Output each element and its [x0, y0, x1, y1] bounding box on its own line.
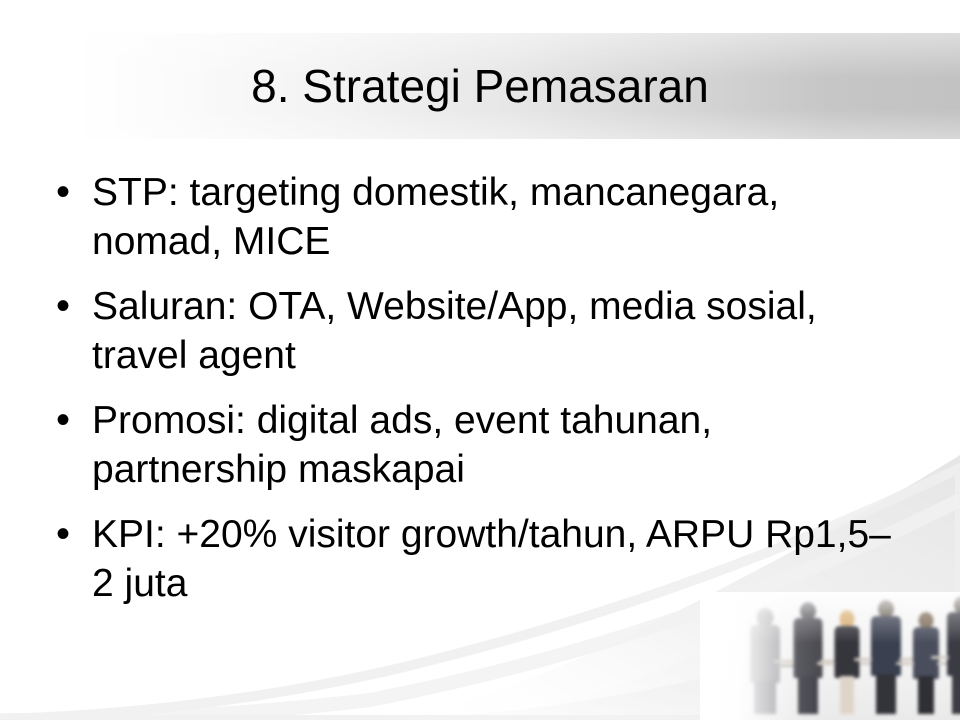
list-item: • Promosi: digital ads, event tahunan, p…	[48, 396, 920, 494]
list-item-text: Promosi: digital ads, event tahunan, par…	[92, 396, 892, 494]
list-item-text: KPI: +20% visitor growth/tahun, ARPU Rp1…	[92, 510, 892, 608]
list-item-text: Saluran: OTA, Website/App, media sosial,…	[92, 282, 892, 380]
page-title: 8. Strategi Pemasaran	[0, 33, 960, 139]
bullet-list: • STP: targeting domestik, mancanegara, …	[48, 168, 920, 624]
list-item-text: STP: targeting domestik, mancanegara, no…	[92, 168, 892, 266]
bullet-point-icon: •	[48, 510, 92, 559]
person-figure	[833, 610, 861, 714]
bullet-point-icon: •	[48, 282, 92, 331]
bullet-point-icon: •	[48, 396, 92, 445]
presentation-slide: 8. Strategi Pemasaran	[0, 0, 960, 720]
list-item: • Saluran: OTA, Website/App, media sosia…	[48, 282, 920, 380]
person-figure	[947, 596, 960, 714]
title-banner: 8. Strategi Pemasaran	[0, 33, 960, 139]
bullet-point-icon: •	[48, 168, 92, 217]
person-figure	[912, 610, 940, 714]
list-item: • KPI: +20% visitor growth/tahun, ARPU R…	[48, 510, 920, 608]
list-item: • STP: targeting domestik, mancanegara, …	[48, 168, 920, 266]
